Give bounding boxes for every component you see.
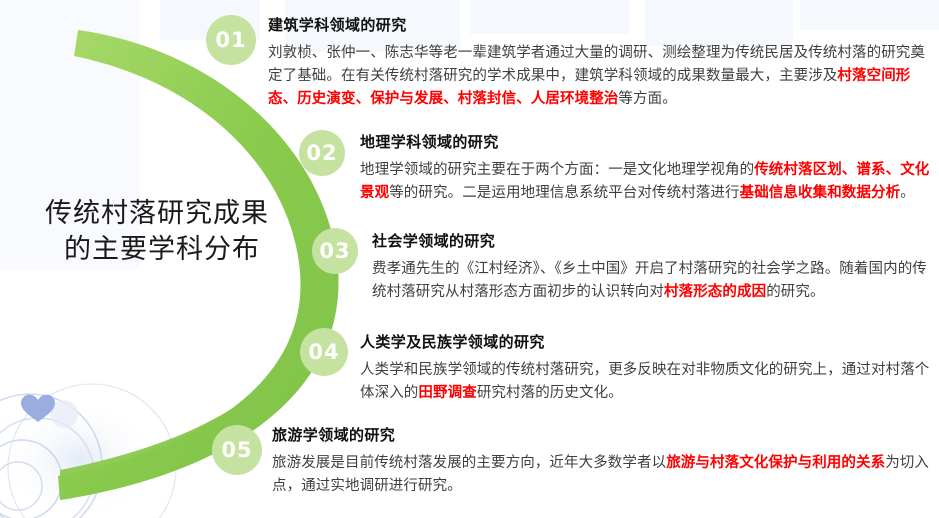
section-block-05: 旅游学领域的研究旅游发展是目前传统村落发展的主要方向，近年大多数学者以旅游与村落… xyxy=(272,424,932,498)
highlighted-keyword: 旅游与村落文化保护与利用的关系 xyxy=(666,455,885,471)
section-block-01: 建筑学科领域的研究刘敦桢、张仲一、陈志华等老一辈建筑学者通过大量的调研、测绘整理… xyxy=(268,14,928,111)
step-badge-02[interactable]: 02 xyxy=(299,130,345,176)
body-text-run: 旅游发展是目前传统村落发展的主要方向，近年大多数学者以 xyxy=(272,455,666,471)
body-text-run: 等的研究。二是运用地理信息系统平台对传统村落进行 xyxy=(389,185,739,201)
section-block-03: 社会学领域的研究费孝通先生的《江村经济》、《乡土中国》开启了村落研究的社会学之路… xyxy=(372,230,930,304)
section-heading: 旅游学领域的研究 xyxy=(272,424,932,445)
section-body: 费孝通先生的《江村经济》、《乡土中国》开启了村落研究的社会学之路。随着国内的传统… xyxy=(372,258,930,304)
section-body: 地理学领域的研究主要在于两个方面：一是文化地理学视角的传统村落区划、谱系、文化景… xyxy=(360,159,930,205)
heart-icon xyxy=(21,395,55,422)
body-text-run: 的研究。 xyxy=(766,284,824,300)
section-block-02: 地理学科领域的研究地理学领域的研究主要在于两个方面：一是文化地理学视角的传统村落… xyxy=(360,131,930,205)
body-text-run: 研究村落的历史文化。 xyxy=(477,385,623,401)
body-text-run: 等方面。 xyxy=(618,91,676,107)
slide-canvas: 传统村落研究成果 的主要学科分布 01建筑学科领域的研究刘敦桢、张仲一、陈志华等… xyxy=(0,0,939,518)
section-block-04: 人类学及民族学领域的研究人类学和民族学领域的传统村落研究，更多反映在对非物质文化… xyxy=(360,331,932,405)
body-text-run: 。 xyxy=(900,185,915,201)
section-heading: 人类学及民族学领域的研究 xyxy=(360,331,932,352)
highlighted-keyword: 田野调查 xyxy=(418,385,476,401)
title-line-1: 传统村落研究成果 xyxy=(26,196,288,232)
step-badge-05[interactable]: 05 xyxy=(212,425,262,475)
step-badge-04[interactable]: 04 xyxy=(300,328,348,376)
step-badge-03[interactable]: 03 xyxy=(312,228,358,274)
highlighted-keyword: 基础信息收集和数据分析 xyxy=(740,185,901,201)
step-badge-01[interactable]: 01 xyxy=(206,15,256,65)
section-heading: 社会学领域的研究 xyxy=(372,230,930,251)
highlighted-keyword: 村落形态的成因 xyxy=(664,284,766,300)
section-body: 人类学和民族学领域的传统村落研究，更多反映在对非物质文化的研究上，通过对村落个体… xyxy=(360,359,932,405)
title-line-2: 的主要学科分布 xyxy=(26,232,288,268)
section-body: 旅游发展是目前传统村落发展的主要方向，近年大多数学者以旅游与村落文化保护与利用的… xyxy=(272,452,932,498)
section-heading: 地理学科领域的研究 xyxy=(360,131,930,152)
body-text-run: 地理学领域的研究主要在于两个方面：一是文化地理学视角的 xyxy=(360,162,754,178)
body-text-run: 刘敦桢、张仲一、陈志华等老一辈建筑学者通过大量的调研、测绘整理为传统民居及传统村… xyxy=(268,45,925,84)
body-text-run: 费孝通先生的《江村经济》、《乡土中国》开启了村落研究的社会学之路。随着国内的传统… xyxy=(372,261,927,300)
section-body: 刘敦桢、张仲一、陈志华等老一辈建筑学者通过大量的调研、测绘整理为传统民居及传统村… xyxy=(268,42,928,111)
section-heading: 建筑学科领域的研究 xyxy=(268,14,928,35)
slide-title: 传统村落研究成果 的主要学科分布 xyxy=(26,196,288,267)
